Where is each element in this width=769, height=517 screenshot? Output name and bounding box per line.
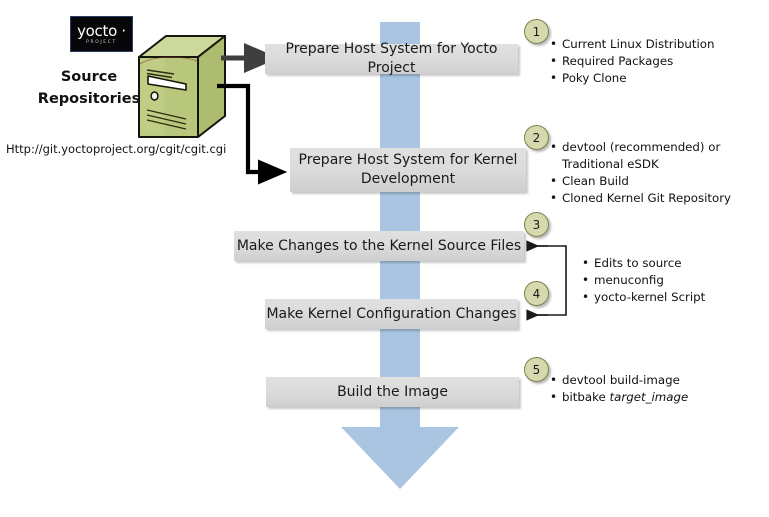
source-repositories-label-line2: Repositories [34,88,144,110]
process-box-label: Make Kernel Configuration Changes [266,305,516,324]
notes-list-item: Edits to source [582,255,705,272]
process-box-prepare-host-kernel[interactable]: Prepare Host System for Kernel Developme… [290,148,526,192]
yocto-logo-wordmark: yocto · [77,24,126,39]
process-box-label: Prepare Host System for Kernel Developme… [290,151,526,189]
source-repositories-url: Http://git.yoctoproject.org/cgit/cgit.cg… [6,142,226,156]
step-badge-2: 2 [524,125,549,150]
step-badge-number: 1 [533,25,541,39]
yocto-project-logo: yocto · PROJECT [70,16,133,52]
process-box-make-config-changes[interactable]: Make Kernel Configuration Changes [265,299,518,329]
step-badge-number: 2 [533,131,541,145]
step-badge-number: 3 [533,218,541,232]
notes-list-item: bitbake target_image [550,389,688,406]
process-box-label: Make Changes to the Kernel Source Files [237,237,521,256]
step-badge-number: 4 [533,287,541,301]
workflow-spine [380,22,420,432]
process-box-build-image[interactable]: Build the Image [266,377,519,407]
notes-list-step5: devtool build-image bitbake target_image [550,372,688,406]
step-badge-4: 4 [524,281,549,306]
notes-list-item: Current Linux Distribution [550,36,714,53]
process-box-make-source-changes[interactable]: Make Changes to the Kernel Source Files [234,231,524,261]
yocto-logo-subtext: PROJECT [86,41,117,46]
process-box-label: Prepare Host System for Yocto Project [265,40,518,78]
server-icon [136,34,228,140]
notes-list-step2: devtool (recommended) or Traditional eSD… [550,139,731,207]
notes-list-item-emphasis: target_image [610,390,689,404]
diagram-canvas: yocto · PROJECT Source Repositories Http… [0,0,769,517]
notes-list-step34: Edits to source menuconfig yocto-kernel … [582,255,705,306]
step-badge-number: 5 [533,363,541,377]
source-repositories-label-line1: Source [34,66,144,88]
step-badge-5: 5 [524,357,549,382]
process-box-prepare-host-yocto[interactable]: Prepare Host System for Yocto Project [265,44,518,74]
notes-list-item: Clean Build [550,173,731,190]
notes-list-item: devtool build-image [550,372,688,389]
source-repositories-label: Source Repositories [34,66,144,110]
notes-list-item: Required Packages [550,53,714,70]
notes-list-item: yocto-kernel Script [582,289,705,306]
step-badge-3: 3 [524,212,549,237]
notes-list-item-prefix: bitbake [562,390,610,404]
step-badge-1: 1 [524,19,549,44]
notes-list-item: menuconfig [582,272,705,289]
notes-list-item: devtool (recommended) or Traditional eSD… [550,139,730,173]
notes-list-step1: Current Linux Distribution Required Pack… [550,36,714,87]
notes-list-item: Cloned Kernel Git Repository [550,190,731,207]
process-box-label: Build the Image [337,383,448,402]
notes-list-item: Poky Clone [550,70,714,87]
workflow-arrow-down [341,427,459,489]
